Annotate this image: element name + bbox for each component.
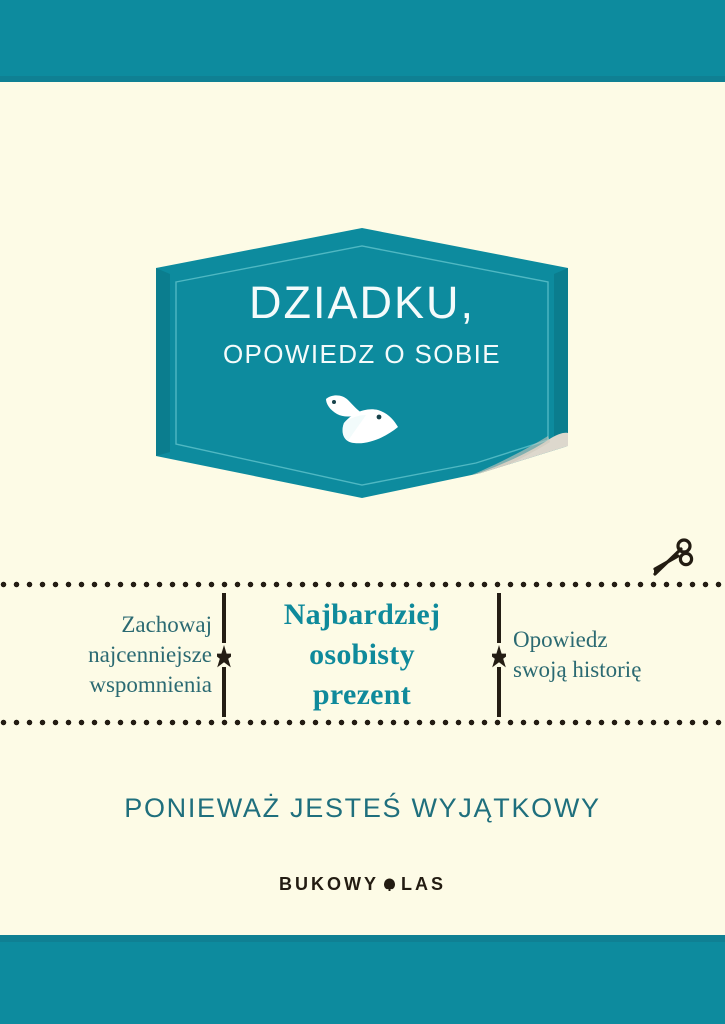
- tagline: PONIEWAŻ JESTEŚ WYJĄTKOWY: [0, 793, 725, 824]
- coupon-center-line-2: osobisty: [284, 635, 441, 675]
- two-birds-icon: [324, 393, 400, 447]
- tree-icon: [382, 877, 397, 892]
- coupon-strip: Zachowaj najcenniejsze wspomnienia Najba…: [0, 591, 725, 719]
- cut-line-top: [0, 581, 725, 588]
- coupon-right-column: Opowiedz swoją historię: [513, 591, 691, 719]
- bottom-teal-band-shadow: [0, 935, 725, 942]
- scissors-icon: [648, 536, 696, 584]
- badge-birds: [156, 393, 568, 452]
- coupon-right-text: Opowiedz swoją historię: [513, 625, 641, 685]
- publisher-name-right: LAS: [401, 874, 446, 895]
- coupon-left-line-3: wspomnienia: [88, 670, 212, 700]
- bottom-teal-band: [0, 935, 725, 1024]
- publisher-logo: BUKOWY LAS: [0, 874, 725, 895]
- coupon-right-line-2: swoją historię: [513, 655, 641, 685]
- title-badge: DZIADKU, OPOWIEDZ O SOBIE: [156, 228, 568, 498]
- publisher-name-left: BUKOWY: [279, 874, 379, 895]
- coupon-center-line-3: prezent: [284, 675, 441, 715]
- cut-line-bottom: [0, 719, 725, 726]
- top-teal-band: [0, 0, 725, 82]
- coupon-center-line-1: Najbardziej: [284, 595, 441, 635]
- book-cover: DZIADKU, OPOWIEDZ O SOBIE: [0, 0, 725, 1024]
- coupon-center-text: Najbardziej osobisty prezent: [284, 595, 441, 715]
- coupon-center-column: Najbardziej osobisty prezent: [236, 591, 488, 719]
- star-divider-right: [492, 591, 506, 719]
- star-divider-left: [217, 591, 231, 719]
- top-teal-band-shadow: [0, 76, 725, 82]
- coupon-left-text: Zachowaj najcenniejsze wspomnienia: [88, 610, 212, 700]
- badge-plate: [156, 228, 568, 498]
- coupon-left-column: Zachowaj najcenniejsze wspomnienia: [40, 591, 212, 719]
- coupon-left-line-2: najcenniejsze: [88, 640, 212, 670]
- badge-shape: [156, 228, 568, 498]
- coupon-right-line-1: Opowiedz: [513, 625, 641, 655]
- coupon-left-line-1: Zachowaj: [88, 610, 212, 640]
